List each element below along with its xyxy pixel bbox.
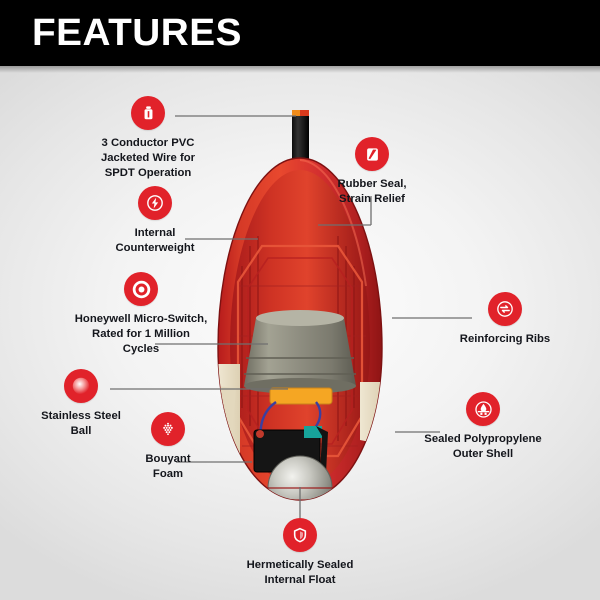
callout-internal-float[interactable]: Hermetically Sealed Internal Float (228, 518, 372, 588)
callout-label: 3 Conductor PVC Jacketed Wire for SPDT O… (78, 136, 218, 181)
cable-icon (131, 96, 165, 130)
callout-outer-shell[interactable]: Sealed Polypropylene Outer Shell (400, 392, 566, 462)
callout-bouyant-foam[interactable]: Bouyant Foam (112, 412, 224, 482)
sphere-icon (64, 369, 98, 403)
foam-icon (151, 412, 185, 446)
seal-icon (355, 137, 389, 171)
callout-label: Sealed Polypropylene Outer Shell (400, 432, 566, 462)
callout-label: Internal Counterweight (90, 226, 220, 256)
callout-internal-counterweight[interactable]: Internal Counterweight (90, 186, 220, 256)
shield-icon (283, 518, 317, 552)
callout-label: Bouyant Foam (112, 452, 224, 482)
arrows-icon (488, 292, 522, 326)
callout-label: Honeywell Micro-Switch, Rated for 1 Mill… (48, 312, 234, 357)
callout-micro-switch[interactable]: Honeywell Micro-Switch, Rated for 1 Mill… (48, 272, 234, 357)
droplet-seal-icon (466, 392, 500, 426)
callout-rubber-seal[interactable]: Rubber Seal, Strain Relief (310, 137, 434, 207)
features-diagram-page: FEATURES (0, 0, 600, 600)
callout-label: Reinforcing Ribs (443, 332, 567, 347)
bolt-icon (138, 186, 172, 220)
callout-conductor-wire[interactable]: 3 Conductor PVC Jacketed Wire for SPDT O… (78, 96, 218, 181)
header-shadow (0, 66, 600, 73)
callout-label: Hermetically Sealed Internal Float (228, 558, 372, 588)
callout-reinforcing-ribs[interactable]: Reinforcing Ribs (443, 292, 567, 347)
ring-icon (124, 272, 158, 306)
callout-label: Rubber Seal, Strain Relief (310, 177, 434, 207)
